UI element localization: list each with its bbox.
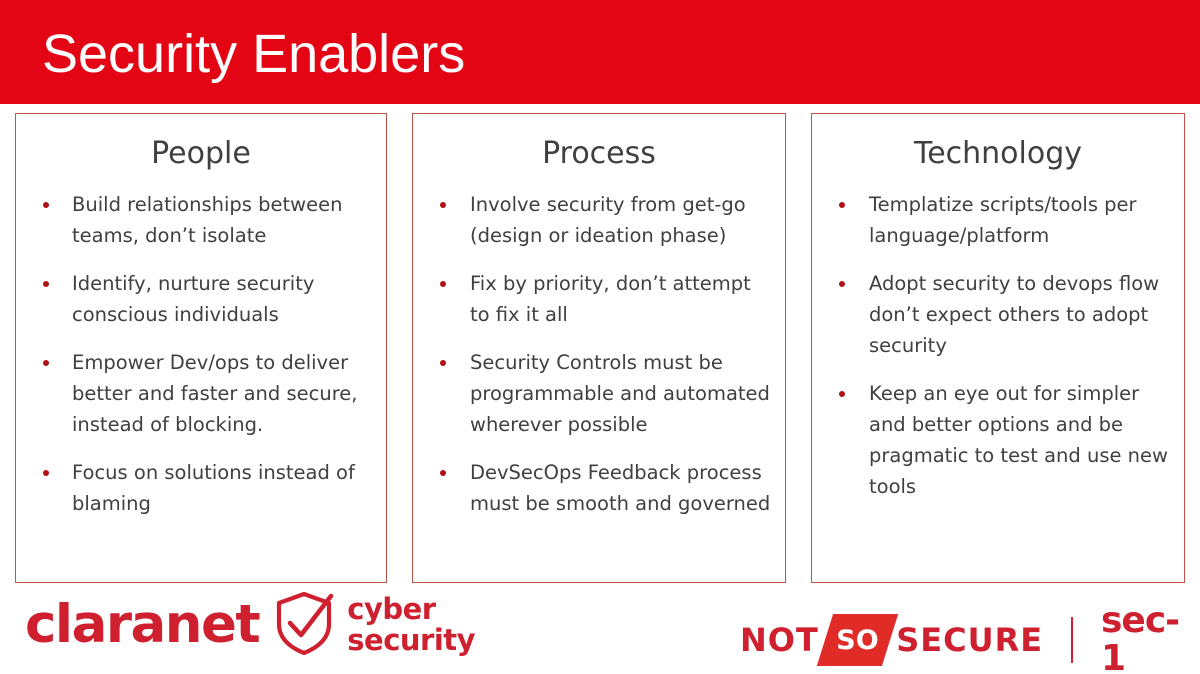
list-item: Empower Dev/ops to deliver better and fa…	[16, 347, 386, 440]
claranet-tagline-line1: cyber	[347, 592, 435, 626]
notsosecure-word-not: NOT	[740, 623, 819, 657]
panel-people: People Build relationships between teams…	[15, 113, 387, 583]
list-item: Identify, nurture security conscious ind…	[16, 268, 386, 330]
panel-process: Process Involve security from get-go (de…	[412, 113, 786, 583]
list-item: Keep an eye out for simpler and better o…	[812, 378, 1184, 502]
claranet-tagline-line2: security	[347, 623, 475, 657]
list-item: DevSecOps Feedback process must be smoot…	[413, 457, 785, 519]
bullet-list-process: Involve security from get-go (design or …	[413, 189, 785, 519]
list-item: Adopt security to devops flow don’t expe…	[812, 268, 1184, 361]
list-item: Fix by priority, don’t attempt to fix it…	[413, 268, 785, 330]
panel-title-people: People	[16, 135, 386, 173]
claranet-wordmark: claranet	[25, 595, 259, 655]
panel-title-process: Process	[413, 135, 785, 173]
slide-canvas: Security Enablers People Build relations…	[0, 0, 1200, 674]
shield-check-icon	[273, 590, 335, 661]
footer: claranet cyber security NOT SO SECURE se…	[0, 583, 1200, 674]
list-item: Involve security from get-go (design or …	[413, 189, 785, 251]
list-item: Focus on solutions instead of blaming	[16, 457, 386, 519]
page-title: Security Enablers	[42, 20, 465, 88]
so-badge-text: SO	[817, 614, 898, 666]
list-item: Security Controls must be programmable a…	[413, 347, 785, 440]
header-banner: Security Enablers	[0, 0, 1200, 104]
notsosecure-word-secure: SECURE	[896, 623, 1043, 657]
bullet-list-technology: Templatize scripts/tools per language/pl…	[812, 189, 1184, 502]
claranet-logo: claranet cyber security	[25, 589, 475, 661]
list-item: Templatize scripts/tools per language/pl…	[812, 189, 1184, 251]
panel-technology: Technology Templatize scripts/tools per …	[811, 113, 1185, 583]
claranet-tagline: cyber security	[347, 594, 475, 656]
panel-title-technology: Technology	[812, 135, 1184, 173]
sec1-wordmark: sec-1	[1101, 602, 1200, 674]
bullet-list-people: Build relationships between teams, don’t…	[16, 189, 386, 519]
list-item: Build relationships between teams, don’t…	[16, 189, 386, 251]
partner-logos: NOT SO SECURE sec-1	[740, 602, 1200, 674]
logo-divider	[1071, 617, 1073, 663]
notsosecure-so-badge: SO	[817, 614, 898, 666]
